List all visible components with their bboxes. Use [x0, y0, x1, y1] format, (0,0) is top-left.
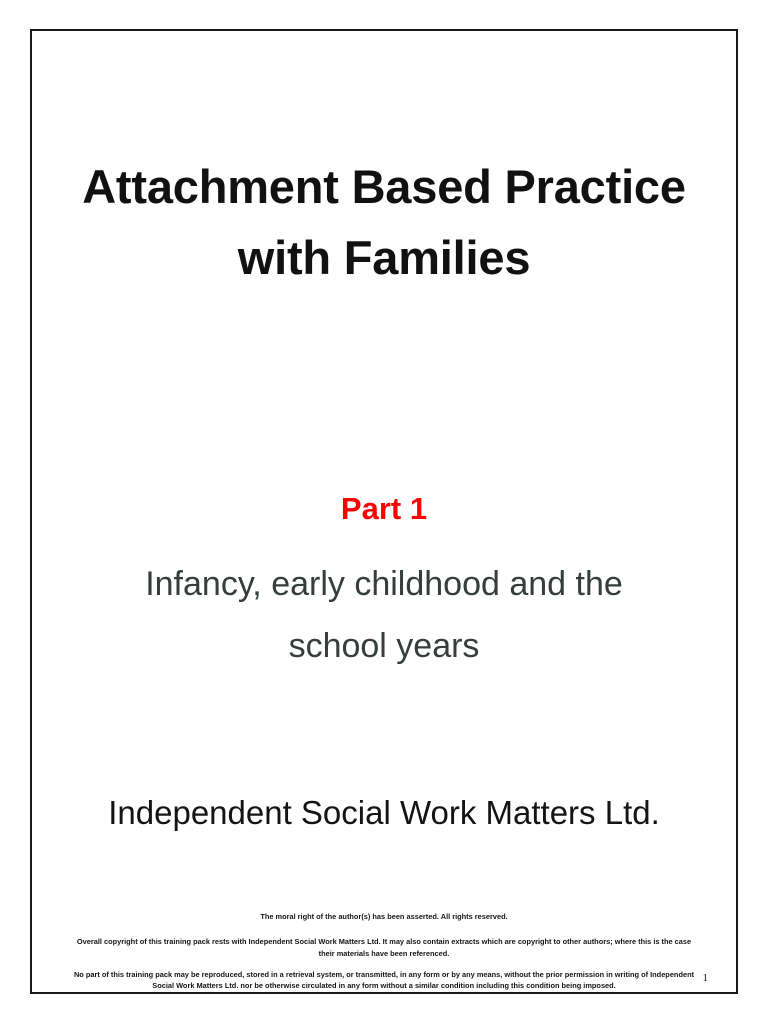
page-border-frame: Attachment Based Practice with Families … [30, 29, 738, 994]
page-sheet: Attachment Based Practice with Families … [0, 0, 770, 1024]
part-label: Part 1 [32, 490, 736, 527]
cover-content: Attachment Based Practice with Families … [32, 31, 736, 992]
page-subtitle: Infancy, early childhood and the school … [32, 554, 736, 678]
page-number: 1 [703, 973, 709, 984]
page-title: Attachment Based Practice with Families [32, 151, 736, 294]
subtitle-line-1: Infancy, early childhood and the [32, 554, 736, 616]
title-line-1: Attachment Based Practice [32, 151, 736, 222]
organisation-name: Independent Social Work Matters Ltd. [32, 793, 736, 833]
copyright-moral-rights: The moral right of the author(s) has bee… [70, 911, 698, 922]
copyright-notice: The moral right of the author(s) has bee… [70, 911, 698, 991]
copyright-reproduction: No part of this training pack may be rep… [70, 969, 698, 992]
subtitle-line-2: school years [32, 616, 736, 678]
title-line-2: with Families [32, 222, 736, 293]
copyright-overall: Overall copyright of this training pack … [70, 936, 698, 959]
